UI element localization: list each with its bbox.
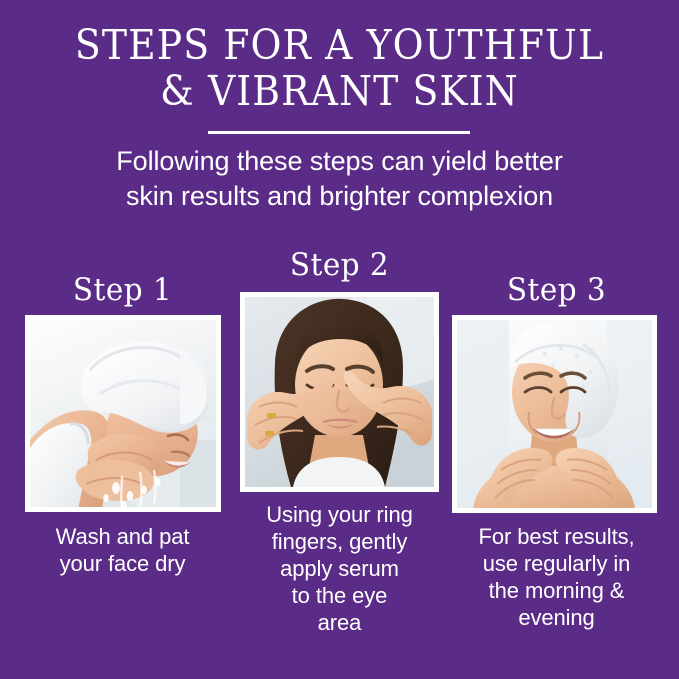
step-1-label: Step 1: [16, 275, 230, 306]
page-title: STEPS FOR A YOUTHFUL & VIBRANT SKIN: [0, 22, 679, 114]
title-divider: [208, 131, 470, 134]
subtitle-line-2: skin results and brighter complexion: [0, 179, 679, 214]
step-3-caption-line-2: use regularly in: [444, 550, 669, 577]
step-2-label: Step 2: [234, 250, 446, 281]
step-1-caption-line-1: Wash and pat: [10, 523, 235, 550]
step-2-caption: Using your ring fingers, gently apply se…: [228, 501, 451, 636]
step-2-caption-line-1: Using your ring: [228, 501, 451, 528]
step-3-caption: For best results, use regularly in the m…: [444, 523, 669, 631]
step-2-caption-line-4: to the eye: [228, 582, 451, 609]
step-2-caption-line-2: fingers, gently: [228, 528, 451, 555]
step-2-caption-line-3: apply serum: [228, 555, 451, 582]
title-line-2: & VIBRANT SKIN: [27, 68, 652, 114]
step-2-photo-frame: [240, 292, 439, 492]
title-line-1: STEPS FOR A YOUTHFUL: [27, 22, 652, 68]
step-3-caption-line-1: For best results,: [444, 523, 669, 550]
step-1-photo-frame: [25, 315, 221, 512]
subtitle-line-1: Following these steps can yield better: [0, 144, 679, 179]
photo-applying-serum: [245, 297, 434, 487]
step-1-caption-line-2: your face dry: [10, 550, 235, 577]
photo-smiling-woman-graphic: [457, 320, 652, 508]
photo-applying-serum-graphic: [245, 297, 434, 487]
photo-smiling-woman: [457, 320, 652, 508]
photo-washing-face: [30, 320, 216, 507]
photo-washing-face-graphic: [30, 320, 216, 507]
step-3-caption-line-3: the morning &: [444, 577, 669, 604]
step-3-label: Step 3: [450, 275, 664, 306]
step-1-caption: Wash and pat your face dry: [10, 523, 235, 577]
step-3-photo-frame: [452, 315, 657, 513]
step-2-caption-line-5: area: [228, 609, 451, 636]
infographic-poster: STEPS FOR A YOUTHFUL & VIBRANT SKIN Foll…: [0, 0, 679, 679]
step-3-caption-line-4: evening: [444, 604, 669, 631]
subtitle: Following these steps can yield better s…: [0, 144, 679, 214]
